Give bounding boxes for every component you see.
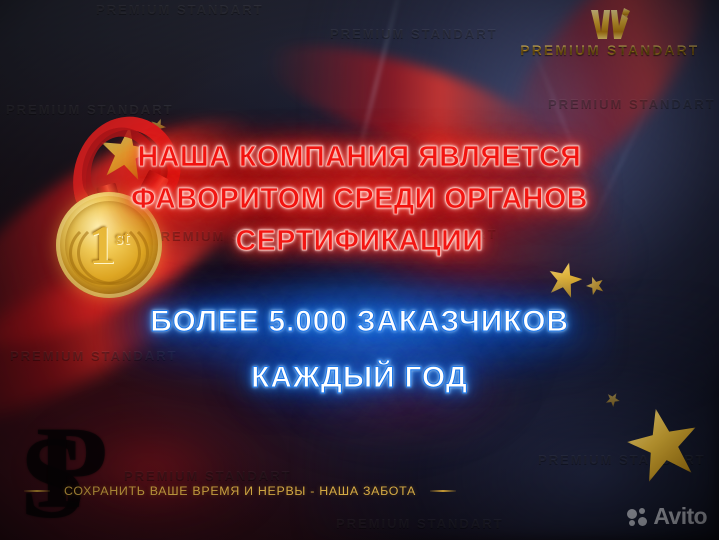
subline-block: БОЛЕЕ 5.000 ЗАКАЗЧИКОВ КАЖДЫЙ ГОД <box>0 294 719 406</box>
avito-wordmark: Avito <box>653 503 707 530</box>
headline-line-1: НАША КОМПАНИЯ ЯВЛЯЕТСЯ <box>0 136 719 178</box>
tagline-text: СОХРАНИТЬ ВАШЕ ВРЕМЯ И НЕРВЫ - НАША ЗАБО… <box>64 484 416 498</box>
premium-standart-w-mark-icon <box>587 8 633 40</box>
tagline-block: СОХРАНИТЬ ВАШЕ ВРЕМЯ И НЕРВЫ - НАША ЗАБО… <box>0 484 480 498</box>
brand-logo-text: PREMIUM STANDART <box>515 43 705 58</box>
headline-line-2: ФАВОРИТОМ СРЕДИ ОРГАНОВ <box>0 178 719 220</box>
avito-dots-icon <box>627 508 648 526</box>
subline-line-2: КАЖДЫЙ ГОД <box>0 350 719 406</box>
avito-watermark: Avito <box>627 503 707 530</box>
brand-logo: PREMIUM STANDART <box>515 8 705 58</box>
headline-block: НАША КОМПАНИЯ ЯВЛЯЕТСЯ ФАВОРИТОМ СРЕДИ О… <box>0 136 719 262</box>
tagline-dash-left <box>24 490 50 492</box>
tagline-dash-right <box>430 490 456 492</box>
promo-banner: PREMIUM STANDARTPREMIUM STANDARTPREMIUM … <box>0 0 719 540</box>
headline-line-3: СЕРТИФИКАЦИИ <box>0 220 719 262</box>
subline-line-1: БОЛЕЕ 5.000 ЗАКАЗЧИКОВ <box>0 294 719 350</box>
